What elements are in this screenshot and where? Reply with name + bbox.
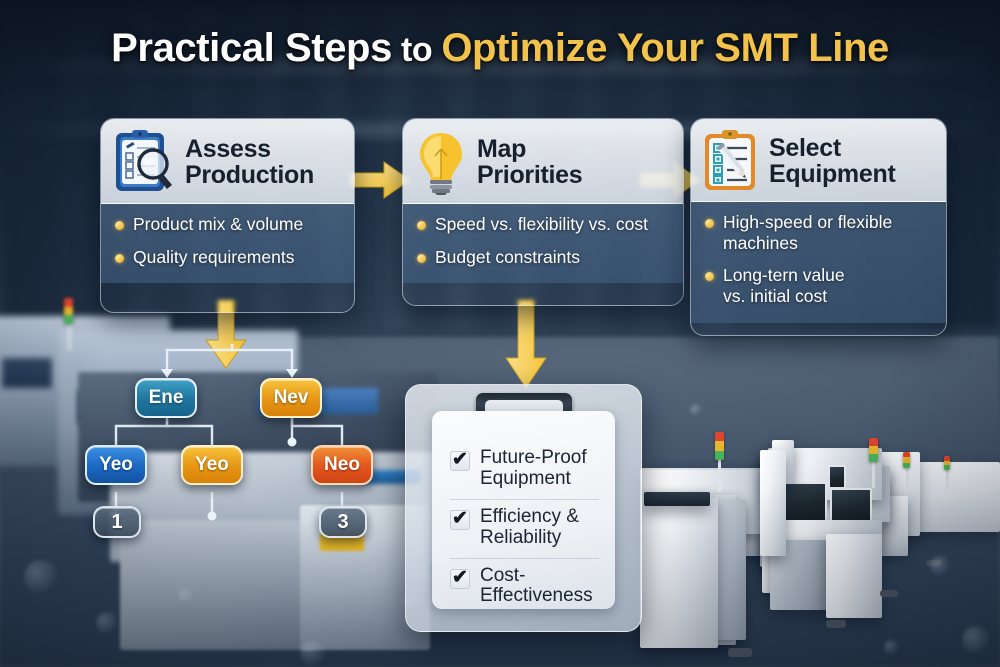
clipboard-magnifier-icon: [113, 129, 175, 195]
card-title: MapPriorities: [477, 136, 582, 188]
bullet-text: High-speed or flexible machines: [723, 212, 892, 253]
card-title: SelectEquipment: [769, 135, 895, 187]
checkbox-checked-icon[interactable]: [450, 451, 470, 471]
card-bullet: Quality requirements: [115, 247, 342, 268]
checklist-label: Future-Proof Equipment: [480, 448, 587, 490]
checkbox-checked-icon[interactable]: [450, 510, 470, 530]
card-title-line2: Production: [185, 161, 314, 189]
flow-node-yeo-2[interactable]: Yeo: [181, 445, 243, 485]
step-card-assess-production[interactable]: AssessProduction Product mix & volume Qu…: [100, 118, 355, 313]
card-header: SelectEquipment: [691, 119, 946, 202]
card-title-line1: Assess: [185, 135, 271, 163]
card-title-line1: Select: [769, 134, 841, 162]
flow-node-label: Yeo: [99, 454, 133, 476]
card-body: High-speed or flexible machines Long-ter…: [691, 202, 946, 323]
bullet-dot-icon: [115, 221, 124, 230]
flow-node-number-3[interactable]: 3: [319, 506, 367, 538]
bullet-dot-icon: [705, 272, 714, 281]
step-card-select-equipment[interactable]: SelectEquipment High-speed or flexible m…: [690, 118, 947, 336]
card-title: AssessProduction: [185, 136, 314, 188]
card-header: AssessProduction: [101, 119, 354, 204]
card-body: Speed vs. flexibility vs. cost Budget co…: [403, 204, 683, 283]
checklist-item[interactable]: Future-Proof Equipment: [450, 441, 599, 500]
bullet-dot-icon: [705, 219, 714, 228]
card-bullet: Long-tern value vs. initial cost: [705, 265, 934, 306]
card-bullet: Speed vs. flexibility vs. cost: [417, 214, 671, 235]
clipboard-pencil-icon: [703, 129, 759, 193]
flow-node-nev[interactable]: Nev: [260, 378, 322, 418]
card-bullet: Budget constraints: [417, 247, 671, 268]
arrow-step2-down-icon: [503, 300, 549, 392]
flow-node-label: 3: [337, 511, 348, 534]
bullet-dot-icon: [417, 221, 426, 230]
checkbox-checked-icon[interactable]: [450, 569, 470, 589]
card-bullet: High-speed or flexible machines: [705, 212, 934, 253]
flow-node-label: Neo: [324, 454, 360, 476]
flow-node-ene[interactable]: Ene: [135, 378, 197, 418]
bullet-text: Long-tern value vs. initial cost: [723, 265, 845, 306]
card-title-line2: Equipment: [769, 160, 895, 188]
flow-node-neo[interactable]: Neo: [311, 445, 373, 485]
checklist-clipboard[interactable]: Future-Proof Equipment Efficiency & Reli…: [405, 384, 642, 632]
card-title-line2: Priorities: [477, 161, 582, 189]
title-part-connector: to: [392, 31, 441, 69]
title-part-accent: Optimize Your SMT Line: [441, 26, 889, 70]
card-body: Product mix & volume Quality requirement…: [101, 204, 354, 283]
bullet-text: Budget constraints: [435, 247, 580, 268]
flow-node-label: Ene: [149, 387, 184, 409]
clipboard-sheet: Future-Proof Equipment Efficiency & Reli…: [432, 411, 615, 609]
lightbulb-icon: [415, 129, 467, 195]
checklist-item[interactable]: Cost- Effectiveness: [450, 559, 599, 617]
card-bullet: Product mix & volume: [115, 214, 342, 235]
flow-node-number-1[interactable]: 1: [93, 506, 141, 538]
flow-node-yeo-1[interactable]: Yeo: [85, 445, 147, 485]
bullet-text: Quality requirements: [133, 247, 294, 268]
step-card-map-priorities[interactable]: MapPriorities Speed vs. flexibility vs. …: [402, 118, 684, 306]
flow-node-label: 1: [111, 511, 122, 534]
flow-node-label: Nev: [274, 387, 309, 409]
bullet-text: Speed vs. flexibility vs. cost: [435, 214, 648, 235]
bullet-dot-icon: [115, 254, 124, 263]
checklist-label: Cost- Effectiveness: [480, 566, 593, 608]
page-title: Practical Steps to Optimize Your SMT Lin…: [0, 26, 1000, 71]
flow-node-label: Yeo: [195, 454, 229, 476]
checklist-label: Efficiency & Reliability: [480, 507, 579, 549]
title-part-primary: Practical Steps: [111, 26, 392, 70]
bullet-dot-icon: [417, 254, 426, 263]
checklist-item[interactable]: Efficiency & Reliability: [450, 500, 599, 559]
card-title-line1: Map: [477, 135, 526, 163]
card-header: MapPriorities: [403, 119, 683, 204]
bullet-text: Product mix & volume: [133, 214, 303, 235]
